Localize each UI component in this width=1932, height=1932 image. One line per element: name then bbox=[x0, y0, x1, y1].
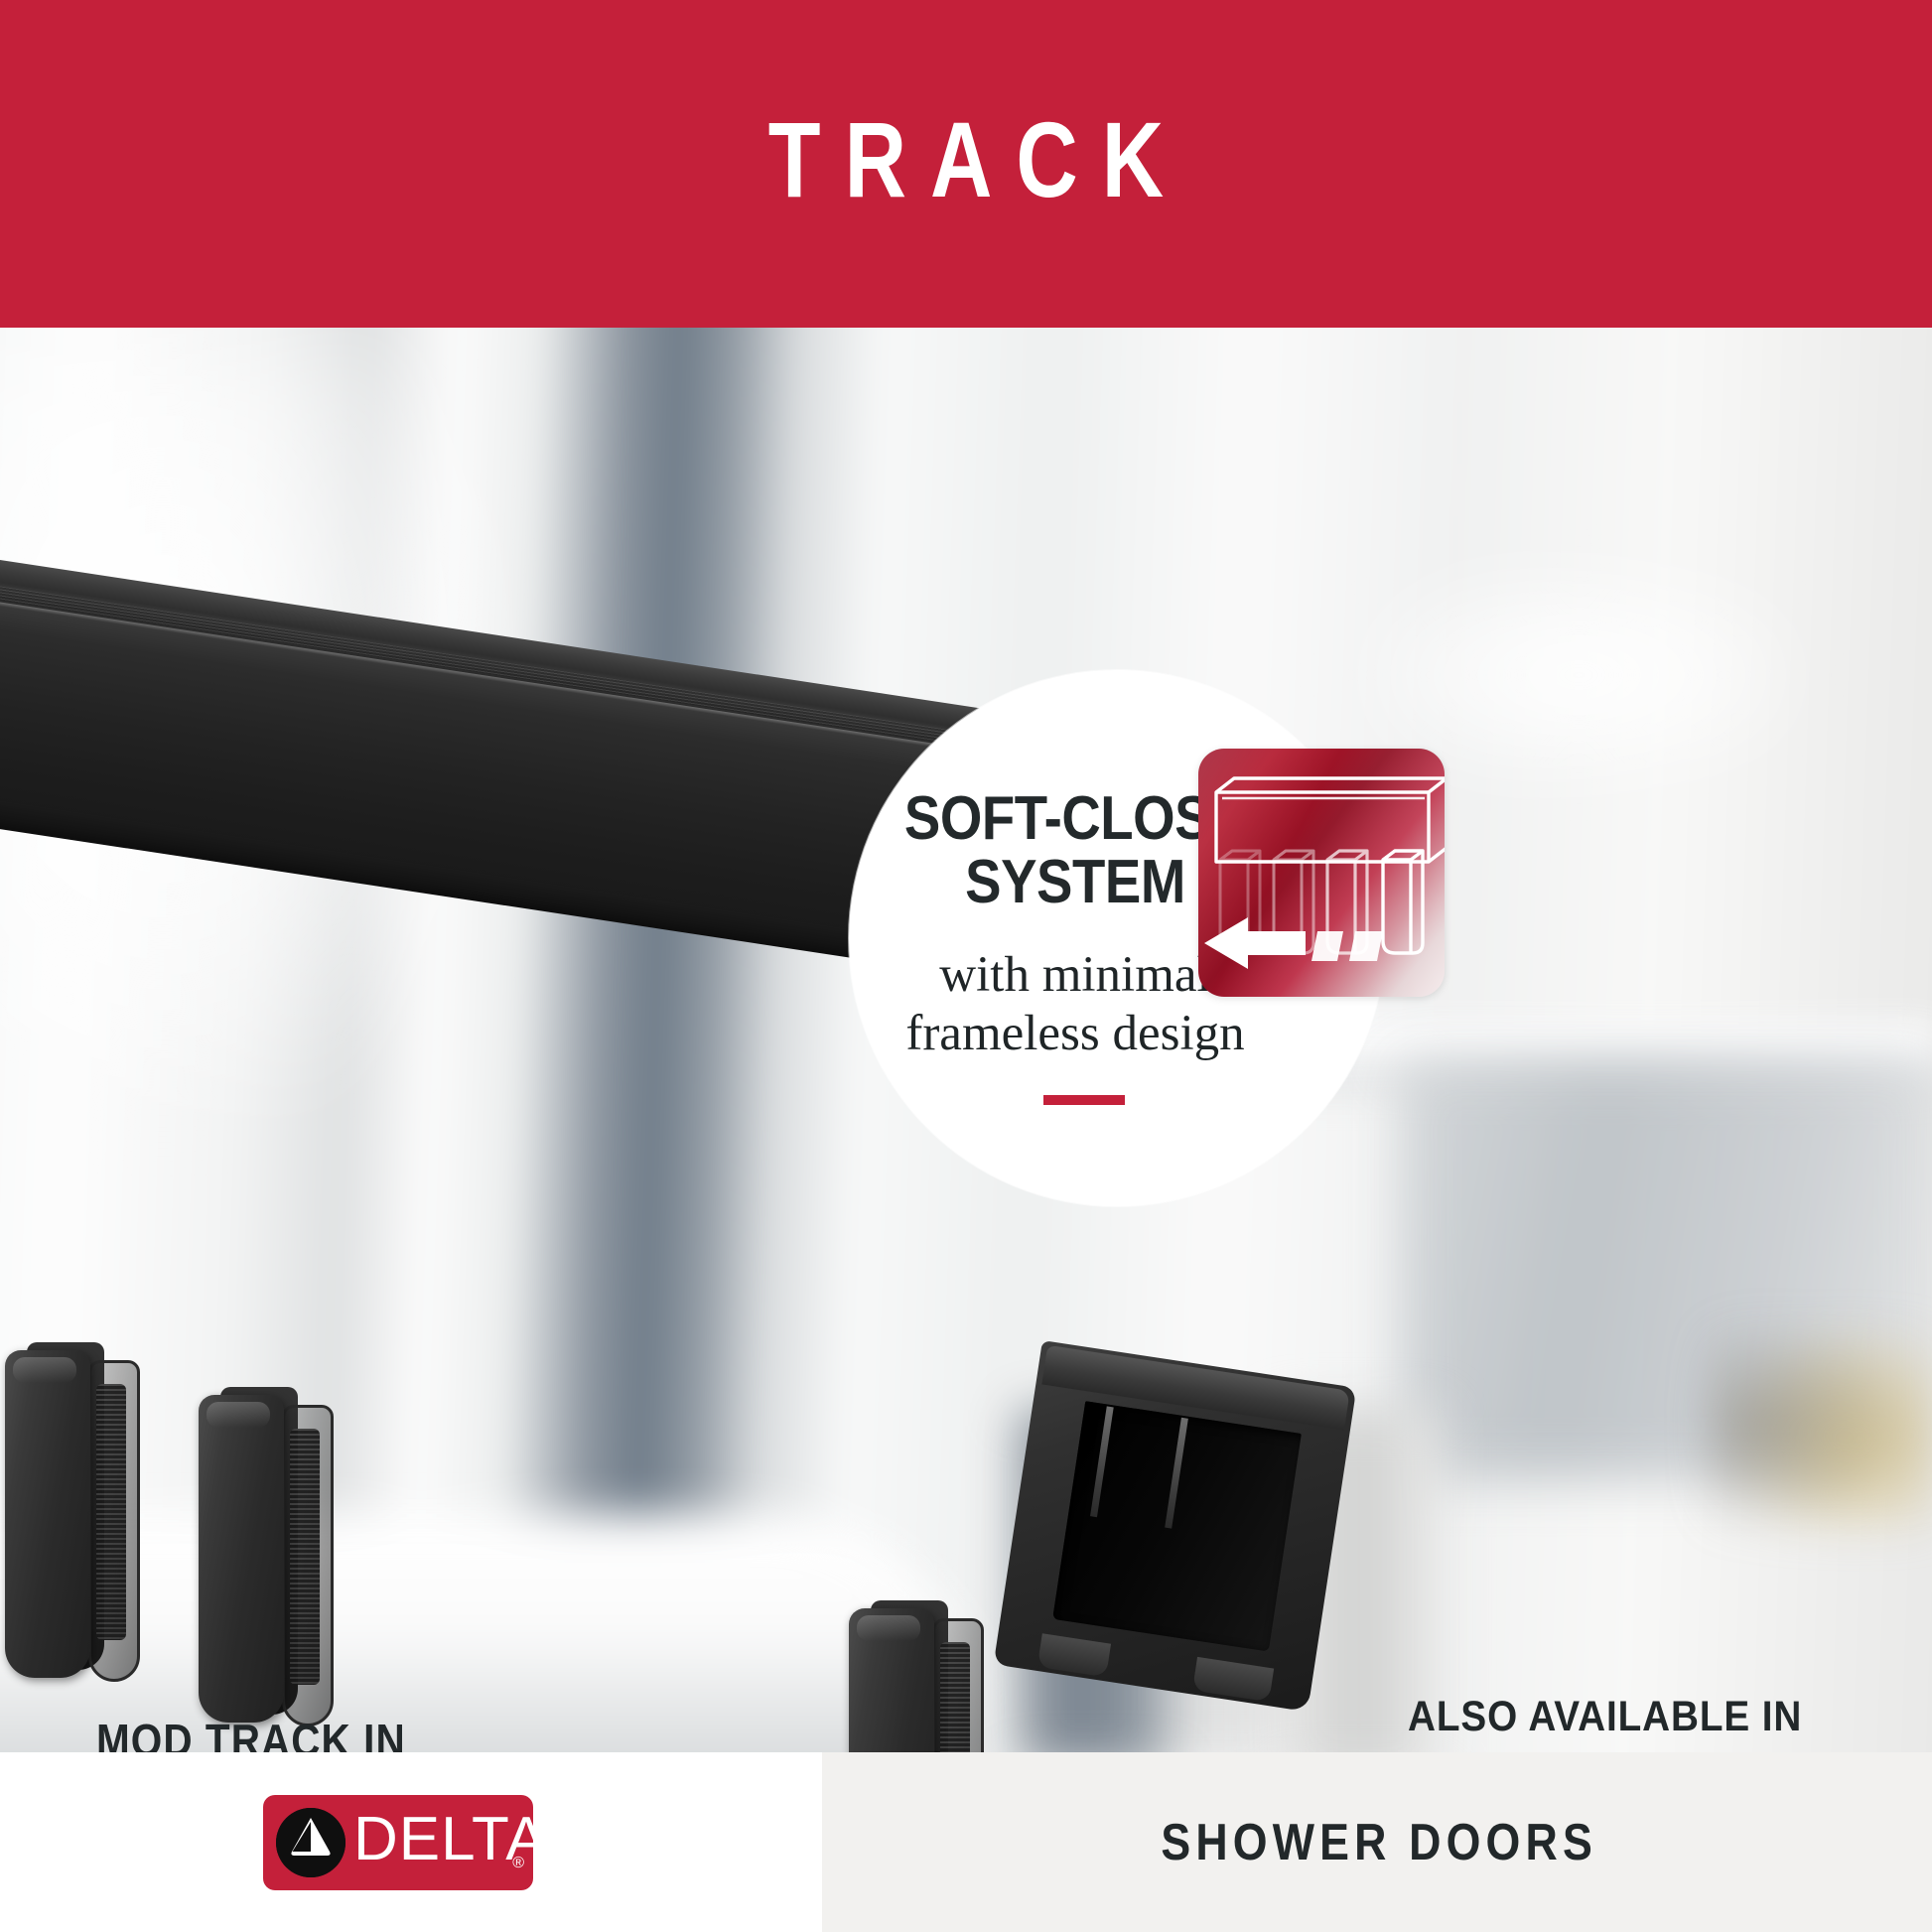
bracket-front-plate bbox=[849, 1608, 934, 1752]
badge-accent-rule bbox=[1043, 1095, 1125, 1105]
track-roller-bracket bbox=[199, 1395, 338, 1723]
bracket-grip-housing bbox=[932, 1618, 984, 1752]
bracket-front-plate bbox=[5, 1350, 90, 1678]
marketing-image: TRACK bbox=[0, 0, 1932, 1932]
registered-trademark-mark: ® bbox=[512, 1856, 524, 1871]
bracket-grip-housing bbox=[282, 1405, 334, 1726]
footer: DELTA ® SHOWER DOORS bbox=[0, 1752, 1932, 1932]
finish-callout-line-1: MOD TRACK IN bbox=[96, 1711, 551, 1752]
track-roller-bracket bbox=[849, 1608, 988, 1752]
header-banner: TRACK bbox=[0, 0, 1932, 328]
soft-close-sliding-track-icon bbox=[1198, 749, 1445, 997]
footer-tagline: SHOWER DOORS bbox=[1157, 1813, 1598, 1872]
page-title: TRACK bbox=[745, 106, 1187, 221]
bracket-grip-housing bbox=[88, 1360, 140, 1682]
delta-triangle-mark-icon bbox=[276, 1808, 345, 1877]
also-available-block: ALSO AVAILABLE IN CHROME BRUSHED NICKEL bbox=[1408, 1693, 1805, 1741]
soft-close-badge: SOFT-CLOSE SYSTEM with minimal frameless… bbox=[849, 670, 1385, 1206]
icon-artwork bbox=[1198, 749, 1445, 997]
product-photo: SOFT-CLOSE SYSTEM with minimal frameless… bbox=[0, 328, 1932, 1752]
footer-tagline-panel: SHOWER DOORS bbox=[822, 1752, 1932, 1932]
track-end-hollow-channel bbox=[1052, 1401, 1302, 1651]
finish-callout-matte-black: MOD TRACK IN MATTE BLACK bbox=[96, 1711, 551, 1752]
also-available-title: ALSO AVAILABLE IN bbox=[1408, 1693, 1765, 1741]
delta-logo: DELTA ® bbox=[263, 1795, 533, 1890]
track-end-channel bbox=[994, 1340, 1357, 1712]
footer-brand-panel: DELTA ® bbox=[0, 1752, 822, 1932]
track-roller-bracket bbox=[5, 1350, 144, 1678]
bracket-front-plate bbox=[199, 1395, 284, 1723]
